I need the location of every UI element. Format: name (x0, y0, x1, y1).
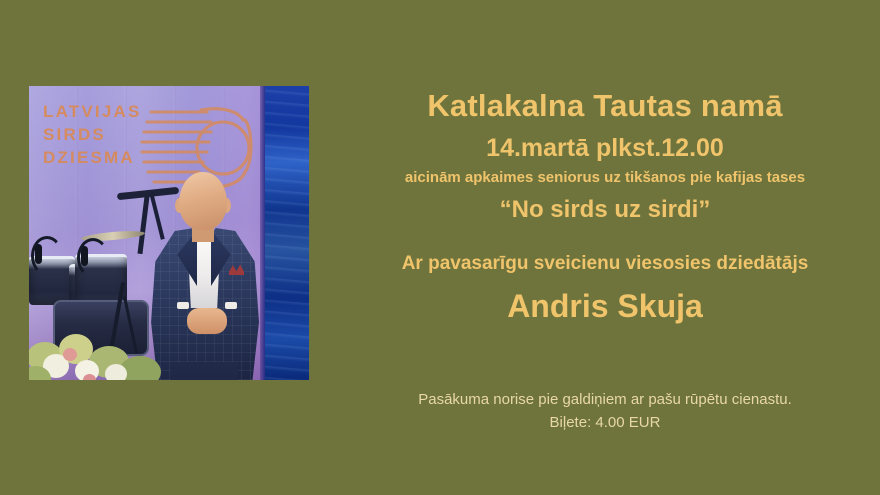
drum-mic-arm-2 (77, 238, 109, 278)
drum-mic-arm-1 (31, 236, 63, 276)
note-line-1: Pasākuma norise pie galdiņiem ar pašu rū… (330, 388, 880, 411)
flower-bouquet (29, 308, 169, 380)
guest-name: Andris Skuja (330, 288, 880, 325)
blue-side-panel (265, 86, 309, 380)
clasped-hands (187, 308, 227, 334)
brand-line-1: LATVIJAS (43, 100, 142, 123)
poster-text-block: Katlakalna Tautas namā 14.martā plkst.12… (330, 0, 880, 495)
event-poster: LATVIJAS SIRDS DZIESMA (0, 0, 880, 495)
event-motto: “No sirds uz sirdi” (330, 196, 880, 224)
event-datetime: 14.martā plkst.12.00 (330, 134, 880, 163)
flower-pink-2 (83, 374, 96, 380)
venue-title: Katlakalna Tautas namā (330, 88, 880, 124)
invitation-text: aicinām apkaimes seniorus uz tikšanos pi… (330, 169, 880, 186)
backdrop-brand-text: LATVIJAS SIRDS DZIESMA (43, 100, 142, 169)
flower-pink-1 (63, 348, 77, 361)
flower-white-3 (105, 364, 127, 380)
shirt-cuff-left (177, 302, 189, 309)
trousers (167, 362, 241, 380)
brand-line-2: SIRDS (43, 123, 142, 146)
note-line-2: Biļete: 4.00 EUR (330, 411, 880, 434)
guest-intro-text: Ar pavasarīgu sveicienu viesosies dziedā… (330, 253, 880, 275)
head (179, 172, 227, 230)
event-note: Pasākuma norise pie galdiņiem ar pašu rū… (330, 388, 880, 434)
shirt-cuff-right (225, 302, 237, 309)
event-photo: LATVIJAS SIRDS DZIESMA (29, 86, 309, 380)
brand-line-3: DZIESMA (43, 146, 142, 169)
